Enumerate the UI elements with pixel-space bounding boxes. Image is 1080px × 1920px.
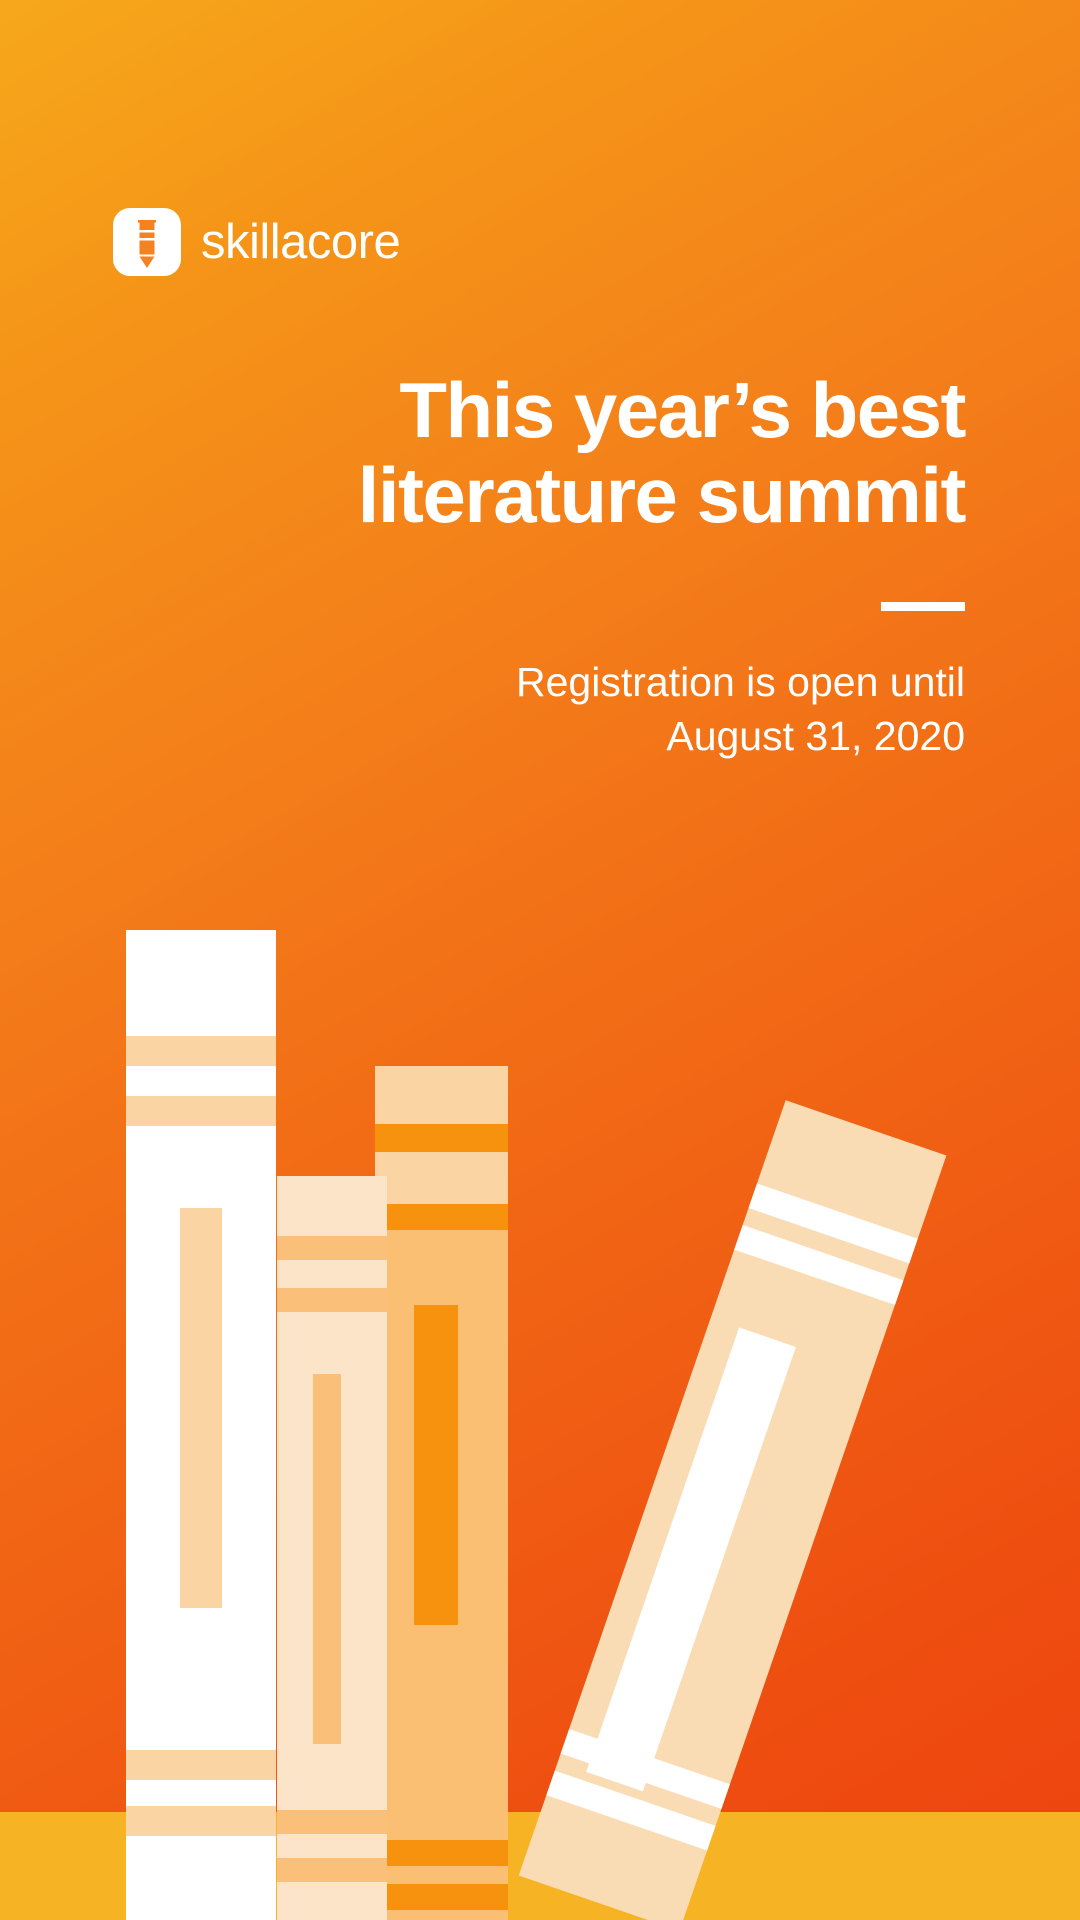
book-tilted-cream bbox=[519, 1100, 947, 1920]
brand-wordmark: skillacore bbox=[201, 218, 400, 267]
registration-subtitle: Registration is open until August 31, 20… bbox=[185, 655, 965, 763]
book-cream-medium bbox=[277, 1176, 387, 1920]
hero-copy: This year’s best literature summit Regis… bbox=[185, 368, 965, 763]
bookmark-pencil-icon bbox=[113, 208, 181, 276]
stack-of-books-illustration bbox=[0, 840, 1080, 1920]
book-orange-tall bbox=[375, 1066, 508, 1920]
page-title: This year’s best literature summit bbox=[185, 368, 965, 538]
title-divider bbox=[881, 602, 965, 611]
book-white-tall bbox=[126, 930, 276, 1920]
poster-canvas: skillacore This year’s best literature s… bbox=[0, 0, 1080, 1920]
brand-logo[interactable]: skillacore bbox=[113, 208, 400, 276]
